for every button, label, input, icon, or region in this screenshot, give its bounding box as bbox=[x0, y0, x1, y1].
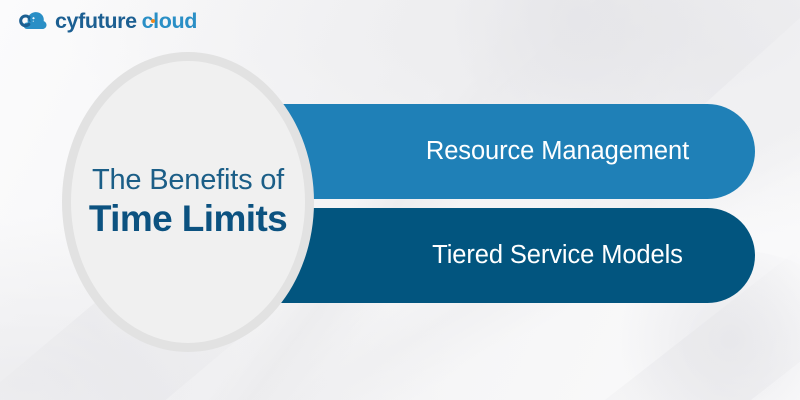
brand-word-cloud: cloud bbox=[142, 9, 197, 33]
brand-logo[interactable]: cyfuturecloud bbox=[14, 9, 197, 33]
cloud-infinity-icon bbox=[14, 9, 48, 33]
benefit-bar-resource-management[interactable]: Resource Management bbox=[260, 104, 755, 199]
brand-wordmark: cyfuturecloud bbox=[55, 11, 197, 33]
title-line-primary: The Benefits of bbox=[92, 165, 284, 195]
benefit-bar-label: Resource Management bbox=[326, 137, 689, 166]
title-line-emphasis: Time Limits bbox=[89, 198, 287, 239]
brand-word-cyfuture: cyfuture bbox=[55, 9, 137, 33]
title-circle: The Benefits of Time Limits bbox=[62, 52, 314, 352]
benefit-bar-tiered-service-models[interactable]: Tiered Service Models bbox=[260, 208, 755, 303]
benefit-bar-label: Tiered Service Models bbox=[332, 241, 683, 270]
infographic-canvas: cyfuturecloud Resource Management Tiered… bbox=[0, 0, 800, 400]
